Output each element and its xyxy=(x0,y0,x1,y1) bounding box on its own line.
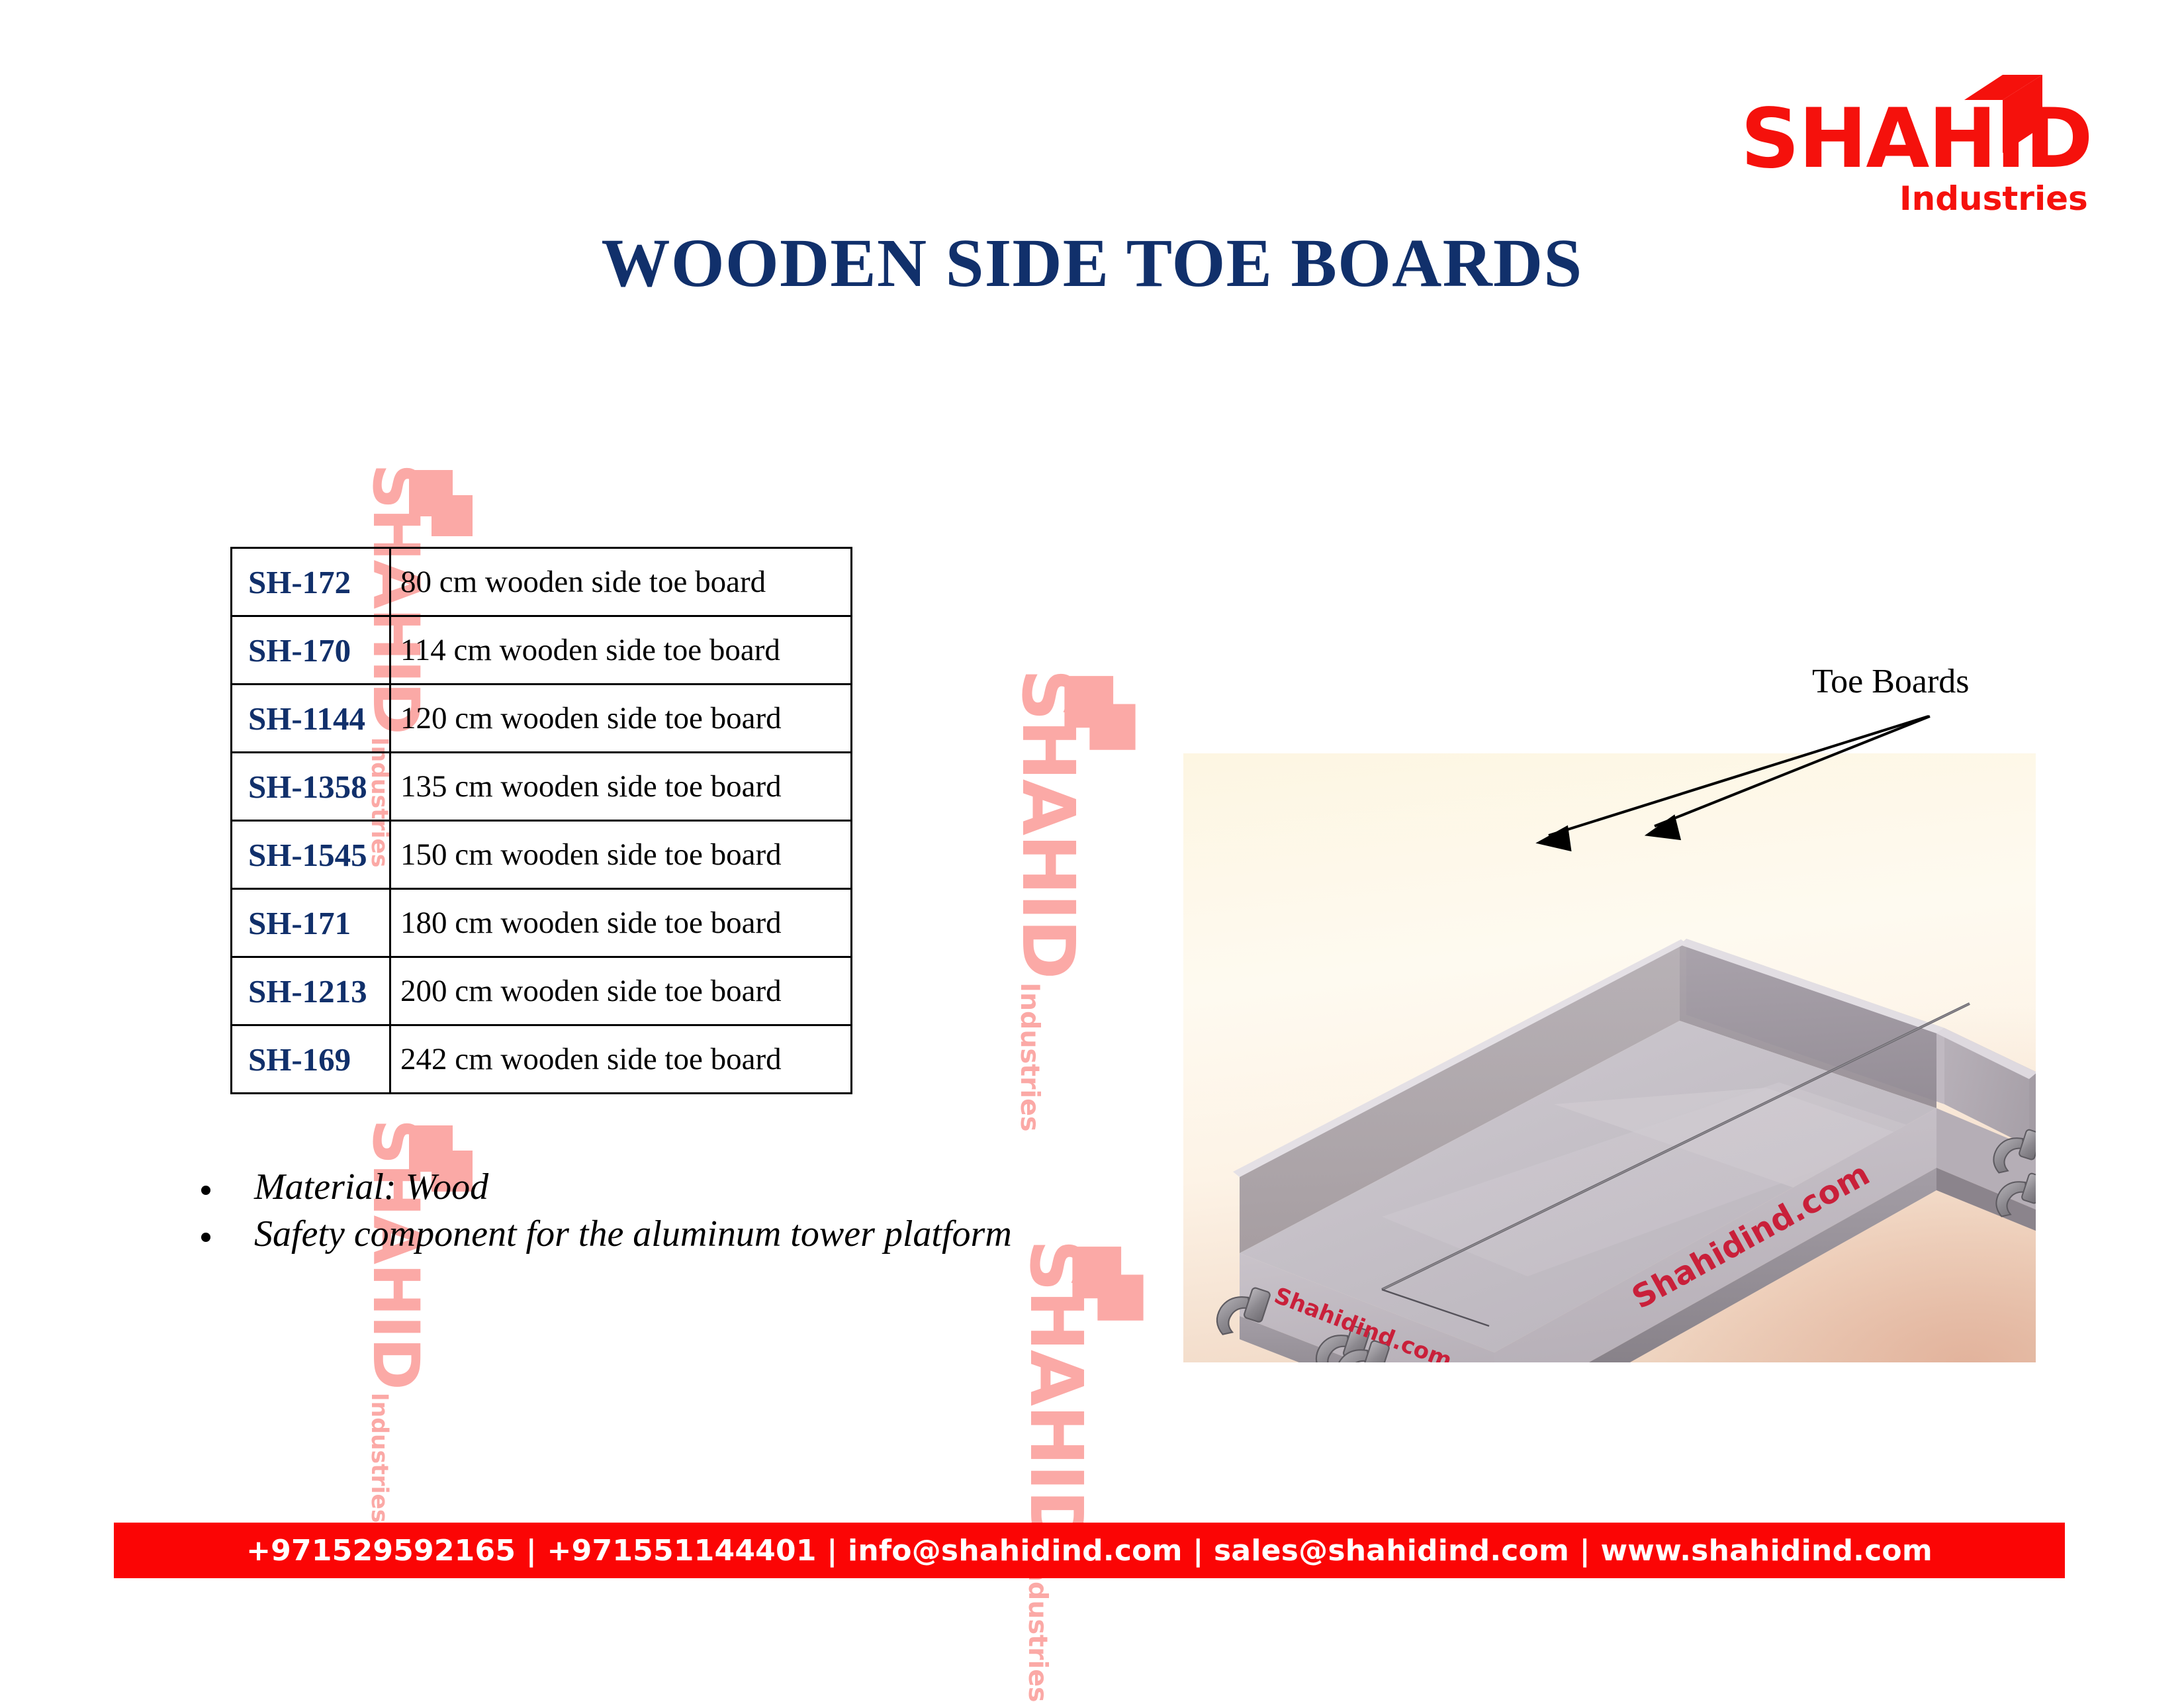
watermark-sub-text: Industries xyxy=(368,1393,391,1523)
watermark-shahid-industries: SHAHID Industries xyxy=(1016,669,1080,1131)
table-row: SH-170 114 cm wooden side toe board xyxy=(232,616,852,685)
watermark-sub-text: Industries xyxy=(1016,982,1042,1131)
watermark-arrow-icon xyxy=(1064,663,1136,751)
table-row: SH-171 180 cm wooden side toe board xyxy=(232,889,852,957)
table-row: SH-1358 135 cm wooden side toe board xyxy=(232,753,852,821)
product-code: SH-1358 xyxy=(232,753,390,821)
product-description: 242 cm wooden side toe board xyxy=(390,1025,852,1094)
company-logo: SHAHID Industries xyxy=(1741,103,2092,218)
product-code: SH-169 xyxy=(232,1025,390,1094)
product-description: 120 cm wooden side toe board xyxy=(390,685,852,753)
product-code: SH-172 xyxy=(232,548,390,616)
feature-list: Material: Wood Safety component for the … xyxy=(185,1164,1012,1257)
product-code: SH-171 xyxy=(232,889,390,957)
logo-arrow-flag-icon xyxy=(1964,75,2044,153)
product-code: SH-170 xyxy=(232,616,390,685)
watermark-arrow-icon xyxy=(1072,1233,1144,1322)
table-row: SH-172 80 cm wooden side toe board xyxy=(232,548,852,616)
list-item: Material: Wood xyxy=(185,1164,1012,1211)
table-row: SH-1213 200 cm wooden side toe board xyxy=(232,957,852,1025)
footer-contact-bar: +971529592165 | +971551144401 | info@sha… xyxy=(114,1523,2065,1578)
spec-table: SH-172 80 cm wooden side toe board SH-17… xyxy=(230,547,852,1094)
table-row: SH-169 242 cm wooden side toe board xyxy=(232,1025,852,1094)
watermark-main-text: SHAHID xyxy=(1016,669,1080,978)
product-description: 114 cm wooden side toe board xyxy=(390,616,852,685)
product-description: 150 cm wooden side toe board xyxy=(390,821,852,889)
watermark-arrow-icon xyxy=(409,458,473,538)
platform-3d-render: Shahidind.com Shahidind.com xyxy=(1183,753,2036,1362)
footer-contact-text: +971529592165 | +971551144401 | info@sha… xyxy=(246,1534,1933,1568)
callout-label: Toe Boards xyxy=(1812,662,1970,701)
product-code: SH-1144 xyxy=(232,685,390,753)
page-title: WOODEN SIDE TOE BOARDS xyxy=(0,224,2184,303)
product-description: 180 cm wooden side toe board xyxy=(390,889,852,957)
list-item: Safety component for the aluminum tower … xyxy=(185,1211,1012,1258)
product-code: SH-1545 xyxy=(232,821,390,889)
product-description: 80 cm wooden side toe board xyxy=(390,548,852,616)
watermark-main-text: SHAHID xyxy=(1024,1239,1088,1549)
product-image: Shahidind.com Shahidind.com xyxy=(1183,753,2036,1362)
table-row: SH-1545 150 cm wooden side toe board xyxy=(232,821,852,889)
watermark-shahid-industries: SHAHID Industries xyxy=(1024,1239,1088,1702)
product-description: 200 cm wooden side toe board xyxy=(390,957,852,1025)
product-code: SH-1213 xyxy=(232,957,390,1025)
table-row: SH-1144 120 cm wooden side toe board xyxy=(232,685,852,753)
product-description: 135 cm wooden side toe board xyxy=(390,753,852,821)
